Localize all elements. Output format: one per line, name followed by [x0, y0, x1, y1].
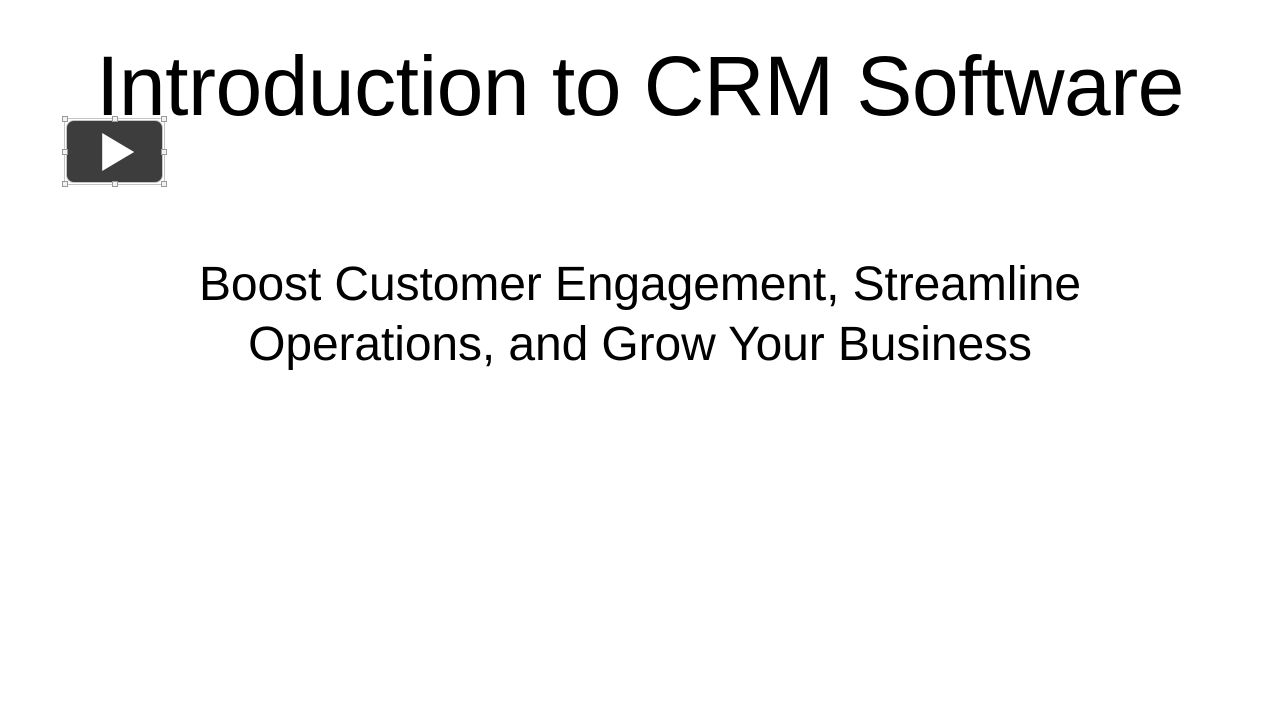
resize-handle-se[interactable] — [161, 181, 167, 187]
subtitle-line-2: Operations, and Grow Your Business — [128, 315, 1152, 375]
resize-handle-sw[interactable] — [62, 181, 68, 187]
video-placeholder[interactable] — [64, 118, 165, 185]
play-icon — [102, 133, 134, 171]
play-button[interactable] — [67, 121, 162, 182]
subtitle-placeholder[interactable]: Boost Customer Engagement, Streamline Op… — [128, 255, 1152, 375]
page-title: Introduction to CRM Software — [0, 38, 1280, 134]
slide-canvas: Introduction to CRM Software Boost Custo… — [0, 0, 1280, 720]
subtitle-line-1: Boost Customer Engagement, Streamline — [128, 255, 1152, 315]
title-placeholder[interactable]: Introduction to CRM Software — [0, 38, 1280, 134]
